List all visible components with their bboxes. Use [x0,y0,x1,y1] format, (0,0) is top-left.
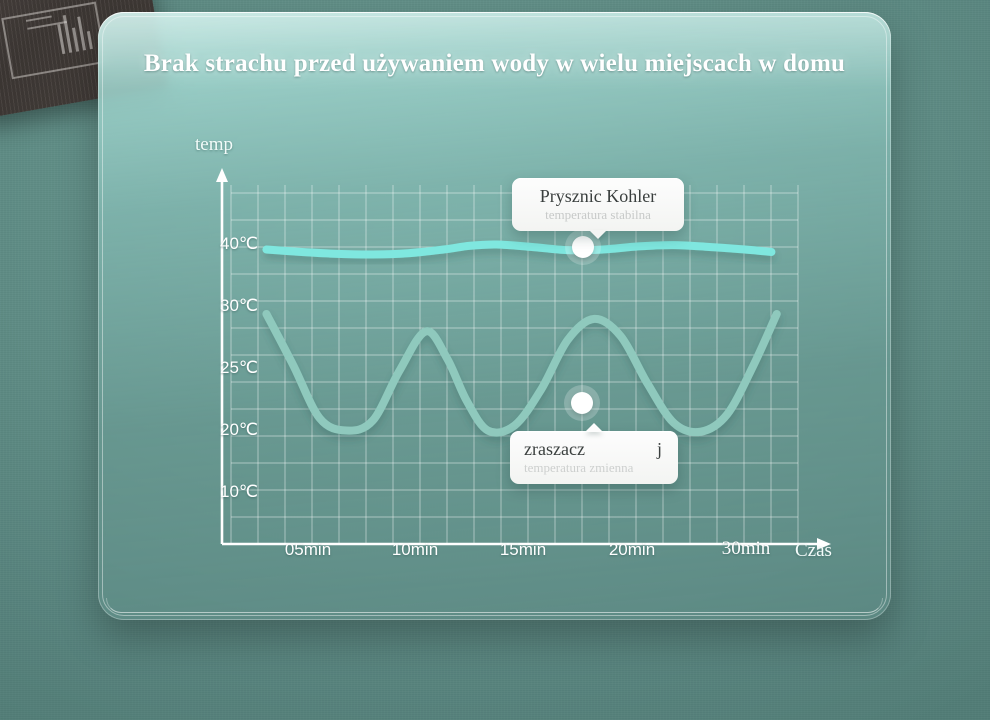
x-tick-2: 15min [500,540,546,560]
y-tick-2: 25℃ [188,358,258,378]
x-tick-4: 30min [722,538,771,560]
chart-card: Brak strachu przed używaniem wody w wiel… [98,12,891,620]
x-tick-1: 10min [392,540,438,560]
x-tick-0: 05min [285,540,331,560]
series-line-zraszacz [266,314,776,433]
y-tick-4: 10℃ [188,482,258,502]
chart-gridlines [231,185,798,544]
tooltip-shower[interactable]: Prysznic Kohler temperatura stabilna [512,178,684,231]
x-tick-3: 20min [609,540,655,560]
y-tick-0: 40℃ [188,234,258,254]
tooltip-sprinkler-title-tail: j [657,440,662,459]
tooltip-shower-title: Prysznic Kohler [528,187,668,206]
y-tick-3: 20℃ [188,420,258,440]
tooltip-sprinkler[interactable]: zraszacz j temperatura zmienna [510,431,678,484]
y-tick-1: 30℃ [188,296,258,316]
tooltip-sprinkler-title-text: zraszacz [524,440,585,459]
tooltip-shower-arrow [589,230,607,239]
data-point-marker-shower[interactable] [572,236,594,258]
tooltip-sprinkler-subtitle: temperatura zmienna [524,461,662,474]
series-line-prysznic-kohler [266,244,771,254]
data-point-marker-sprinkler[interactable] [571,392,593,414]
tooltip-sprinkler-title: zraszacz j [524,440,662,459]
tooltip-sprinkler-arrow [585,423,603,432]
desk-object-bars-icon [56,11,96,54]
y-axis-ticks: 40℃30℃25℃20℃10℃ [186,12,258,620]
tooltip-shower-subtitle: temperatura stabilna [528,208,668,221]
x-axis-label: Czas [795,540,832,562]
chart-series [266,244,776,432]
chart-plot-area: temp Czas 40℃30℃25℃20℃10℃ 05min10min15mi… [98,12,891,620]
